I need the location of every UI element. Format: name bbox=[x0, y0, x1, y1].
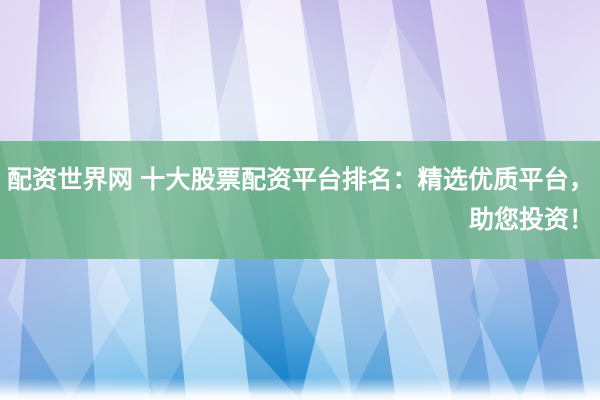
bottom-white-fade bbox=[0, 378, 600, 400]
headline-banner-band: 配资世界网 十大股票配资平台排名：精选优质平台，助您投资！ bbox=[0, 141, 600, 259]
banner-headline-text: 配资世界网 十大股票配资平台排名：精选优质平台，助您投资！ bbox=[0, 160, 600, 240]
promo-banner-image: 配资世界网 十大股票配资平台排名：精选优质平台，助您投资！ bbox=[0, 0, 600, 400]
